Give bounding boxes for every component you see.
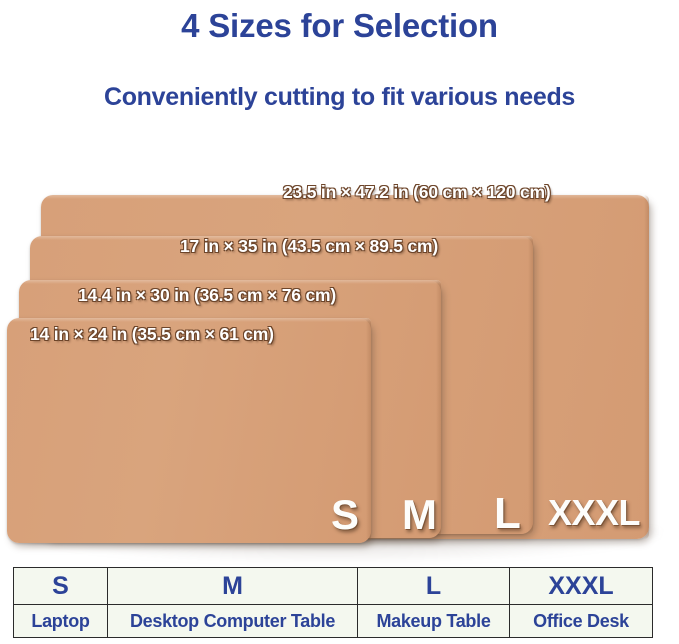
size-usage-table: S M L XXXL Laptop Desktop Computer Table… xyxy=(13,567,653,638)
size-letter-xxxl: XXXL xyxy=(548,495,640,531)
dimension-label-m: 14.4 in × 30 in (36.5 cm × 76 cm) xyxy=(78,285,336,306)
dimension-label-xxxl: 23.5 in × 47.2 in (60 cm × 120 cm) xyxy=(283,182,551,203)
table-cell-size-s: S xyxy=(14,568,108,605)
table-row-sizes: S M L XXXL xyxy=(14,568,653,605)
table-cell-size-l: L xyxy=(358,568,510,605)
table-cell-size-m: M xyxy=(108,568,358,605)
mats-illustration: 23.5 in × 47.2 in (60 cm × 120 cm) 17 in… xyxy=(0,0,679,560)
table-cell-use-m: Desktop Computer Table xyxy=(108,605,358,638)
table-cell-size-xxxl: XXXL xyxy=(510,568,653,605)
size-letter-l: L xyxy=(494,492,520,536)
size-letter-m: M xyxy=(402,494,437,536)
table-cell-use-xxxl: Office Desk xyxy=(510,605,653,638)
mat-s xyxy=(7,318,371,543)
dimension-label-l: 17 in × 35 in (43.5 cm × 89.5 cm) xyxy=(180,236,438,257)
table-cell-use-l: Makeup Table xyxy=(358,605,510,638)
size-letter-s: S xyxy=(331,494,359,536)
dimension-label-s: 14 in × 24 in (35.5 cm × 61 cm) xyxy=(30,324,274,345)
table-cell-use-s: Laptop xyxy=(14,605,108,638)
table-row-uses: Laptop Desktop Computer Table Makeup Tab… xyxy=(14,605,653,638)
